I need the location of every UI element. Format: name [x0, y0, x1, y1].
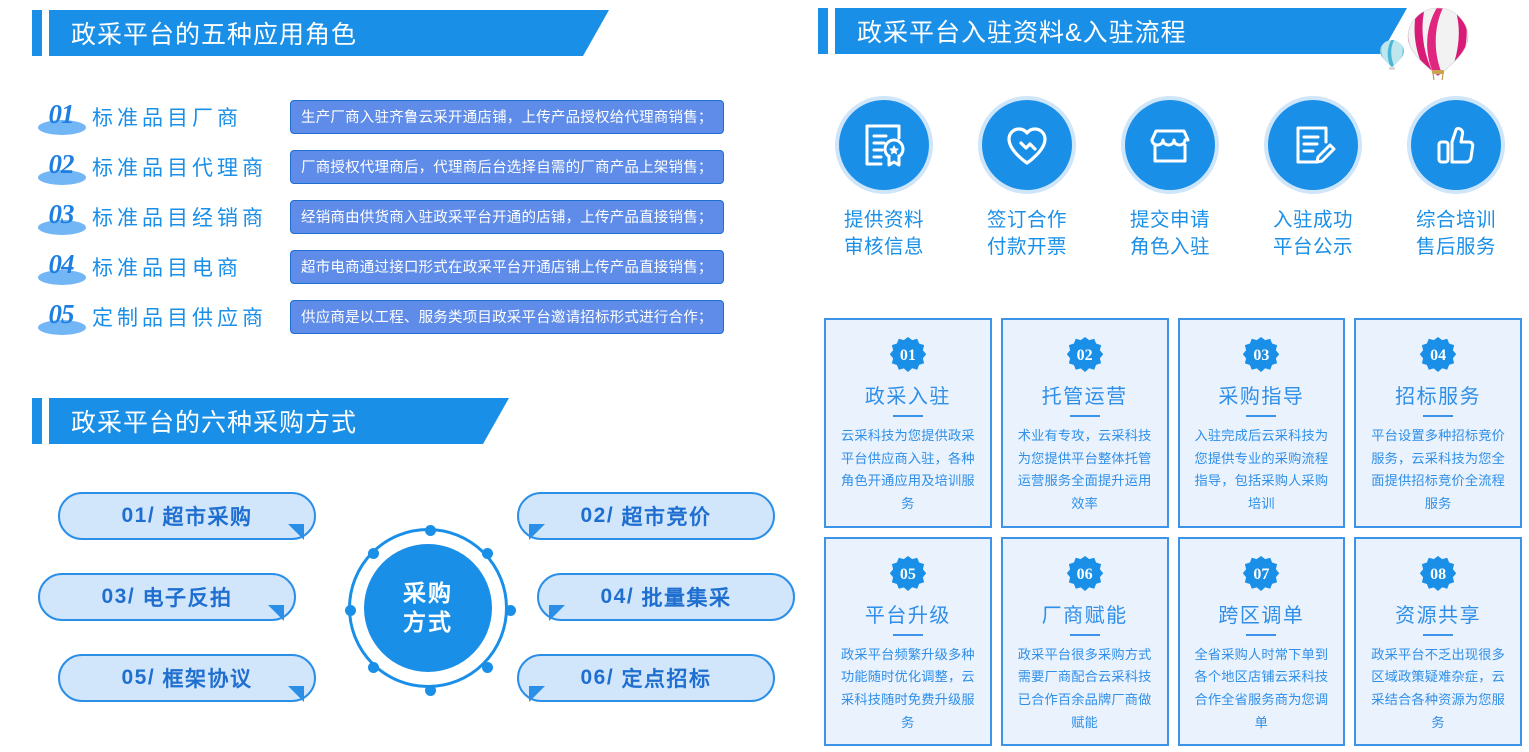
- flow-label-line1: 综合培训: [1416, 207, 1496, 234]
- flow-step[interactable]: 签订合作 付款开票: [963, 96, 1091, 286]
- role-number-text: 05: [49, 299, 74, 330]
- card-title: 厂商赋能: [1042, 599, 1128, 628]
- flow-icon-circle: [1264, 96, 1362, 194]
- card-body: 政采平台不乏出现很多区域政策疑难杂症，云采结合各种资源为您服务: [1356, 644, 1520, 735]
- flow-step[interactable]: 综合培训 售后服务: [1392, 96, 1520, 286]
- header-accent-tick: [32, 10, 42, 56]
- ring-dot: [482, 662, 493, 673]
- method-pill-03[interactable]: 03/ 电子反拍: [38, 573, 296, 621]
- header-bar: 政采平台的六种采购方式: [49, 398, 509, 444]
- roles-list: 01 标准品目厂商 生产厂商入驻齐鲁云采开通店铺，上传产品授权给代理商销售； 0…: [30, 92, 790, 342]
- flow-label-line2: 售后服务: [1416, 234, 1496, 261]
- methods-center-label: 采购 方式: [364, 544, 492, 672]
- role-number: 05: [30, 298, 92, 336]
- method-number: 06/: [580, 666, 614, 690]
- card-body: 政采平台很多采购方式需要厂商配合云采科技已合作百余品牌厂商做赋能: [1003, 644, 1167, 735]
- flow-icon-circle: [978, 96, 1076, 194]
- role-row: 05 定制品目供应商 供应商是以工程、服务类项目政采平台邀请招标形式进行合作；: [30, 292, 790, 342]
- ring-dot: [425, 685, 436, 696]
- heart-handshake-icon: [1000, 118, 1054, 172]
- header-gap: [42, 10, 49, 56]
- role-row: 01 标准品目厂商 生产厂商入驻齐鲁云采开通店铺，上传产品授权给代理商销售；: [30, 92, 790, 142]
- card-body: 入驻完成后云采科技为您提供专业的采购流程指导，包括采购人采购培训: [1180, 425, 1344, 516]
- card-divider: [1246, 634, 1276, 636]
- card-title: 资源共享: [1395, 599, 1481, 628]
- card-number: 02: [1065, 336, 1105, 376]
- role-number: 02: [30, 148, 92, 186]
- flow-step-label: 入驻成功 平台公示: [1273, 207, 1353, 261]
- method-pill-01[interactable]: 01/ 超市采购: [58, 492, 316, 540]
- role-title: 标准品目代理商: [92, 152, 290, 182]
- header-bar: 政采平台的五种应用角色: [49, 10, 609, 56]
- card-title: 平台升级: [865, 599, 951, 628]
- service-card[interactable]: 05 平台升级 政采平台频繁升级多种功能随时优化调整，云采科技随时免费升级服务: [824, 537, 992, 747]
- card-body: 术业有专攻，云采科技为您提供平台整体托管运营服务全面提升运用效率: [1003, 425, 1167, 516]
- section-header-roles: 政采平台的五种应用角色: [32, 10, 609, 56]
- pill-pointer: [529, 686, 545, 702]
- service-card[interactable]: 04 招标服务 平台设置多种招标竞价服务，云采科技为您全面提供招标竞价全流程服务: [1354, 318, 1522, 528]
- card-title: 托管运营: [1042, 380, 1128, 409]
- method-pill-04[interactable]: 04/ 批量集采: [537, 573, 795, 621]
- service-card[interactable]: 01 政采入驻 云采科技为您提供政采平台供应商入驻，各种角色开通应用及培训服务: [824, 318, 992, 528]
- ring-dot: [482, 548, 493, 559]
- section-title-methods: 政采平台的六种采购方式: [71, 403, 357, 439]
- flow-step[interactable]: 入驻成功 平台公示: [1249, 96, 1377, 286]
- ring-dot: [345, 605, 356, 616]
- service-card[interactable]: 02 托管运营 术业有专攻，云采科技为您提供平台整体托管运营服务全面提升运用效率: [1001, 318, 1169, 528]
- method-pill-05[interactable]: 05/ 框架协议: [58, 654, 316, 702]
- role-description-pill: 经销商由供货商入驻政采平台开通的店铺，上传产品直接销售；: [290, 200, 724, 234]
- card-divider: [893, 634, 923, 636]
- role-number: 03: [30, 198, 92, 236]
- role-row: 02 标准品目代理商 厂商授权代理商后，代理商后台选择自需的厂商产品上架销售；: [30, 142, 790, 192]
- service-card[interactable]: 03 采购指导 入驻完成后云采科技为您提供专业的采购流程指导，包括采购人采购培训: [1178, 318, 1346, 528]
- method-number: 05/: [121, 666, 155, 690]
- method-label: 超市竞价: [622, 501, 712, 531]
- card-badge: 05: [888, 555, 928, 595]
- role-title: 定制品目供应商: [92, 302, 290, 332]
- card-badge: 01: [888, 336, 928, 376]
- role-number-text: 04: [49, 249, 74, 280]
- center-line-1: 采购: [403, 579, 453, 608]
- pill-pointer: [288, 686, 304, 702]
- method-number: 03/: [101, 585, 135, 609]
- flow-label-line2: 角色入驻: [1130, 234, 1210, 261]
- center-line-2: 方式: [403, 608, 453, 637]
- card-badge: 04: [1418, 336, 1458, 376]
- method-pill-02[interactable]: 02/ 超市竞价: [517, 492, 775, 540]
- card-number: 04: [1418, 336, 1458, 376]
- role-number-text: 03: [49, 199, 74, 230]
- role-title: 标准品目厂商: [92, 102, 290, 132]
- card-divider: [1423, 415, 1453, 417]
- card-body: 云采科技为您提供政采平台供应商入驻，各种角色开通应用及培训服务: [826, 425, 990, 516]
- service-card[interactable]: 07 跨区调单 全省采购人时常下单到各个地区店铺云采科技合作全省服务商为您调单: [1178, 537, 1346, 747]
- section-title-entry: 政采平台入驻资料&入驻流程: [857, 13, 1187, 49]
- card-number: 08: [1418, 555, 1458, 595]
- card-body: 全省采购人时常下单到各个地区店铺云采科技合作全省服务商为您调单: [1180, 644, 1344, 735]
- method-pill-06[interactable]: 06/ 定点招标: [517, 654, 775, 702]
- header-accent-tick: [32, 398, 42, 444]
- flow-label-line1: 提供资料: [844, 207, 924, 234]
- flow-icon-circle: [1121, 96, 1219, 194]
- hot-air-balloon-small-icon: [1379, 39, 1405, 70]
- method-label: 批量集采: [642, 582, 732, 612]
- pill-pointer: [549, 605, 565, 621]
- methods-diagram: 01/ 超市采购 03/ 电子反拍 05/ 框架协议 02/ 超市竞价 04/ …: [30, 488, 805, 718]
- flow-step[interactable]: 提交申请 角色入驻: [1106, 96, 1234, 286]
- method-label: 超市采购: [163, 501, 253, 531]
- flow-step[interactable]: 提供资料 审核信息: [820, 96, 948, 286]
- role-description-pill: 厂商授权代理商后，代理商后台选择自需的厂商产品上架销售；: [290, 150, 724, 184]
- flow-step-label: 综合培训 售后服务: [1416, 207, 1496, 261]
- flow-icon-circle: [835, 96, 933, 194]
- section-header-entry: 政采平台入驻资料&入驻流程: [818, 8, 1407, 54]
- role-number: 04: [30, 248, 92, 286]
- header-accent-tick: [818, 8, 828, 54]
- role-row: 03 标准品目经销商 经销商由供货商入驻政采平台开通的店铺，上传产品直接销售；: [30, 192, 790, 242]
- role-number: 01: [30, 98, 92, 136]
- role-description-pill: 超市电商通过接口形式在政采平台开通店铺上传产品直接销售；: [290, 250, 724, 284]
- card-body: 平台设置多种招标竞价服务，云采科技为您全面提供招标竞价全流程服务: [1356, 425, 1520, 516]
- hot-air-balloon-icon: [1378, 4, 1498, 82]
- method-number: 02/: [580, 504, 614, 528]
- method-label: 电子反拍: [143, 582, 233, 612]
- pill-pointer: [268, 605, 284, 621]
- card-body: 政采平台频繁升级多种功能随时优化调整，云采科技随时免费升级服务: [826, 644, 990, 735]
- pill-pointer: [288, 524, 304, 540]
- flow-label-line1: 提交申请: [1130, 207, 1210, 234]
- flow-label-line2: 平台公示: [1273, 234, 1353, 261]
- method-label: 框架协议: [163, 663, 253, 693]
- card-badge: 08: [1418, 555, 1458, 595]
- card-title: 政采入驻: [865, 380, 951, 409]
- role-description-pill: 生产厂商入驻齐鲁云采开通店铺，上传产品授权给代理商销售；: [290, 100, 724, 134]
- ring-dot: [368, 662, 379, 673]
- service-cards-grid: 01 政采入驻 云采科技为您提供政采平台供应商入驻，各种角色开通应用及培训服务 …: [824, 318, 1522, 746]
- ring-dot: [425, 525, 436, 536]
- document-edit-icon: [1286, 118, 1340, 172]
- role-title: 标准品目经销商: [92, 202, 290, 232]
- flow-label-line2: 付款开票: [987, 234, 1067, 261]
- infographic-page: 政采平台的五种应用角色 01 标准品目厂商 生产厂商入驻齐鲁云采开通店铺，上传产…: [0, 0, 1529, 752]
- header-bar: 政采平台入驻资料&入驻流程: [835, 8, 1407, 54]
- card-number: 05: [888, 555, 928, 595]
- role-description-pill: 供应商是以工程、服务类项目政采平台邀请招标形式进行合作；: [290, 300, 724, 334]
- flow-icon-circle: [1407, 96, 1505, 194]
- storefront-icon: [1143, 118, 1197, 172]
- flow-label-line1: 签订合作: [987, 207, 1067, 234]
- certificate-icon: [857, 118, 911, 172]
- flow-step-label: 提交申请 角色入驻: [1130, 207, 1210, 261]
- role-number-text: 01: [49, 99, 74, 130]
- card-divider: [1246, 415, 1276, 417]
- thumbs-up-icon: [1429, 118, 1483, 172]
- card-divider: [893, 415, 923, 417]
- flow-step-label: 签订合作 付款开票: [987, 207, 1067, 261]
- method-number: 04/: [600, 585, 634, 609]
- balloon-decoration: [1378, 4, 1498, 82]
- role-number-text: 02: [49, 149, 74, 180]
- role-title: 标准品目电商: [92, 252, 290, 282]
- card-title: 招标服务: [1395, 380, 1481, 409]
- entry-flow-steps: 提供资料 审核信息 签订合作 付款开票: [820, 96, 1520, 286]
- methods-center-hub: 采购 方式: [348, 528, 508, 688]
- flow-label-line2: 审核信息: [844, 234, 924, 261]
- card-badge: 03: [1241, 336, 1281, 376]
- card-number: 07: [1241, 555, 1281, 595]
- flow-label-line1: 入驻成功: [1273, 207, 1353, 234]
- card-divider: [1070, 634, 1100, 636]
- method-label: 定点招标: [622, 663, 712, 693]
- role-row: 04 标准品目电商 超市电商通过接口形式在政采平台开通店铺上传产品直接销售；: [30, 242, 790, 292]
- card-badge: 02: [1065, 336, 1105, 376]
- card-divider: [1070, 415, 1100, 417]
- card-title: 跨区调单: [1218, 599, 1304, 628]
- section-header-methods: 政采平台的六种采购方式: [32, 398, 509, 444]
- flow-step-label: 提供资料 审核信息: [844, 207, 924, 261]
- card-title: 采购指导: [1218, 380, 1304, 409]
- section-title-roles: 政采平台的五种应用角色: [71, 15, 357, 51]
- card-number: 06: [1065, 555, 1105, 595]
- method-number: 01/: [121, 504, 155, 528]
- card-badge: 07: [1241, 555, 1281, 595]
- card-badge: 06: [1065, 555, 1105, 595]
- header-gap: [42, 398, 49, 444]
- ring-dot: [505, 605, 516, 616]
- pill-pointer: [529, 524, 545, 540]
- card-divider: [1423, 634, 1453, 636]
- header-gap: [828, 8, 835, 54]
- card-number: 03: [1241, 336, 1281, 376]
- service-card[interactable]: 08 资源共享 政采平台不乏出现很多区域政策疑难杂症，云采结合各种资源为您服务: [1354, 537, 1522, 747]
- ring-dot: [368, 548, 379, 559]
- service-card[interactable]: 06 厂商赋能 政采平台很多采购方式需要厂商配合云采科技已合作百余品牌厂商做赋能: [1001, 537, 1169, 747]
- card-number: 01: [888, 336, 928, 376]
